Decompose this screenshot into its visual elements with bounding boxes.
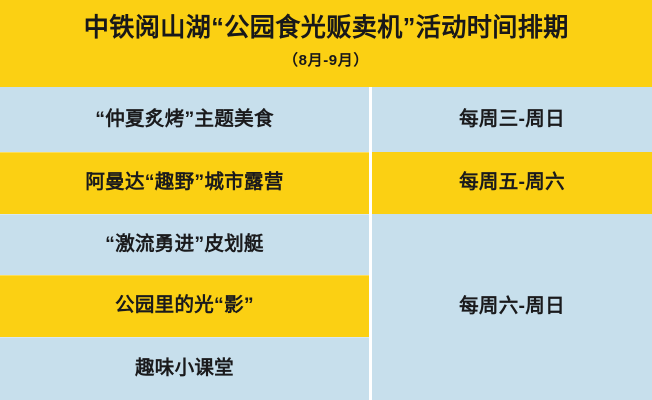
time-value: 每周五-周六: [459, 171, 565, 194]
table-row: 阿曼达“趣野”城市露营: [0, 152, 369, 214]
activity-column: “仲夏炙烤”主题美食 阿曼达“趣野”城市露营 “激流勇进”皮划艇 公园里的光“影…: [0, 87, 369, 400]
activity-name: 公园里的光“影”: [115, 294, 254, 317]
activity-name: 趣味小课堂: [135, 357, 234, 380]
table-cell-time: 每周五-周六: [372, 152, 652, 214]
page-subtitle-date-range: （8月-9月）: [283, 49, 369, 70]
schedule-poster: 中铁阅山湖“公园食光贩卖机”活动时间排期 （8月-9月） “仲夏炙烤”主题美食 …: [0, 0, 652, 400]
activity-name: 阿曼达“趣野”城市露营: [85, 171, 283, 194]
table-row: 趣味小课堂: [0, 337, 369, 400]
time-value: 每周三-周日: [459, 108, 565, 131]
row-divider: [0, 152, 369, 153]
schedule-table: “仲夏炙烤”主题美食 阿曼达“趣野”城市露营 “激流勇进”皮划艇 公园里的光“影…: [0, 87, 652, 400]
table-row: “激流勇进”皮划艇: [0, 214, 369, 275]
table-cell-time: 每周三-周日: [372, 87, 652, 152]
activity-name: “激流勇进”皮划艇: [105, 233, 264, 256]
row-divider: [0, 214, 369, 215]
time-value: 每周六-周日: [459, 295, 565, 318]
row-divider: [0, 337, 369, 338]
table-cell-time-merged: 每周六-周日: [372, 214, 652, 400]
table-row: “仲夏炙烤”主题美食: [0, 87, 369, 152]
activity-name: “仲夏炙烤”主题美食: [95, 108, 274, 131]
row-divider: [0, 275, 369, 276]
time-column: 每周三-周日 每周五-周六 每周六-周日: [372, 87, 652, 400]
page-title: 中铁阅山湖“公园食光贩卖机”活动时间排期: [83, 14, 568, 42]
table-row: 公园里的光“影”: [0, 275, 369, 337]
poster-header: 中铁阅山湖“公园食光贩卖机”活动时间排期 （8月-9月）: [0, 0, 652, 87]
